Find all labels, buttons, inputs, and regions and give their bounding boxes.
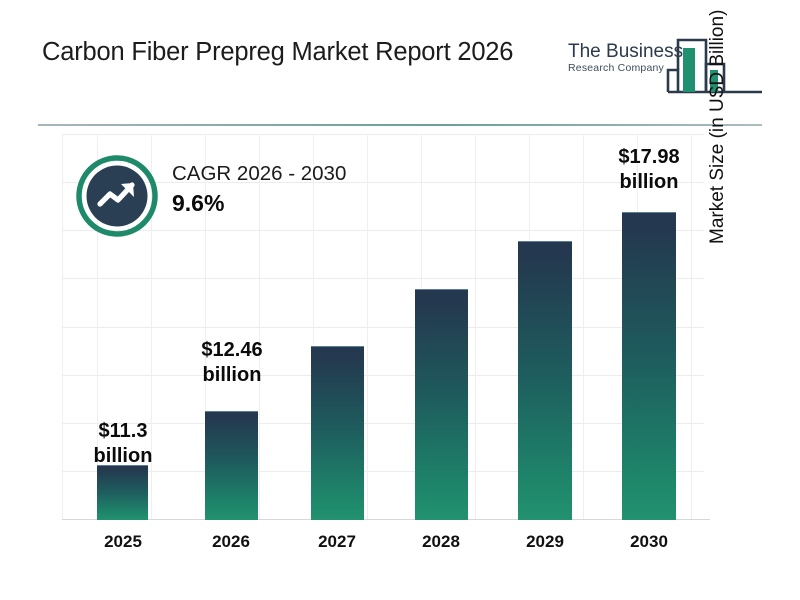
bar-2025[interactable] xyxy=(97,465,148,520)
page-title: Carbon Fiber Prepreg Market Report 2026 xyxy=(42,38,513,67)
bar-2026[interactable] xyxy=(205,411,258,520)
value-label-2030-amount: $17.98 xyxy=(593,145,705,170)
value-label-2025-unit: billion xyxy=(67,444,179,469)
value-label-2026-amount: $12.46 xyxy=(176,338,288,363)
value-label-2030-unit: billion xyxy=(593,170,705,195)
y-axis-title: Market Size (in USD Billion) xyxy=(704,0,734,244)
value-label-2025: $11.3 billion xyxy=(67,419,179,469)
bar-2028[interactable] xyxy=(415,289,468,520)
x-tick-2029: 2029 xyxy=(499,532,591,552)
value-label-2025-amount: $11.3 xyxy=(67,419,179,444)
gridline-vertical xyxy=(62,134,63,520)
bar-2029[interactable] xyxy=(518,241,572,520)
cagr-badge-icon xyxy=(76,155,158,237)
cagr-period-label: CAGR 2026 - 2030 xyxy=(172,161,346,187)
value-label-2026: $12.46 billion xyxy=(176,338,288,388)
y-axis-title-text: Market Size (in USD Billion) xyxy=(707,10,729,244)
value-label-2030: $17.98 billion xyxy=(593,145,705,195)
header: Carbon Fiber Prepreg Market Report 2026 … xyxy=(0,0,800,118)
value-label-2026-unit: billion xyxy=(176,363,288,388)
x-tick-2027: 2027 xyxy=(291,532,383,552)
bar-2027[interactable] xyxy=(311,346,364,520)
gridline-horizontal xyxy=(62,134,704,135)
cagr-text-block: CAGR 2026 - 2030 9.6% xyxy=(172,161,346,219)
x-axis-baseline xyxy=(62,519,710,520)
gridline-horizontal xyxy=(62,278,704,279)
chart-page: Carbon Fiber Prepreg Market Report 2026 … xyxy=(0,0,800,600)
gridline-horizontal xyxy=(62,327,704,328)
x-tick-2030: 2030 xyxy=(603,532,695,552)
bar-2030[interactable] xyxy=(622,212,676,520)
header-divider xyxy=(38,124,762,126)
gridline-horizontal xyxy=(62,375,704,376)
gridline-horizontal xyxy=(62,471,704,472)
x-tick-2026: 2026 xyxy=(185,532,277,552)
x-tick-2025: 2025 xyxy=(77,532,169,552)
gridline-vertical xyxy=(475,134,476,520)
cagr-annotation: CAGR 2026 - 2030 9.6% xyxy=(76,155,386,247)
cagr-value: 9.6% xyxy=(172,187,346,219)
gridline-vertical xyxy=(583,134,584,520)
x-tick-2028: 2028 xyxy=(395,532,487,552)
company-logo: The Business Research Company xyxy=(568,28,768,100)
